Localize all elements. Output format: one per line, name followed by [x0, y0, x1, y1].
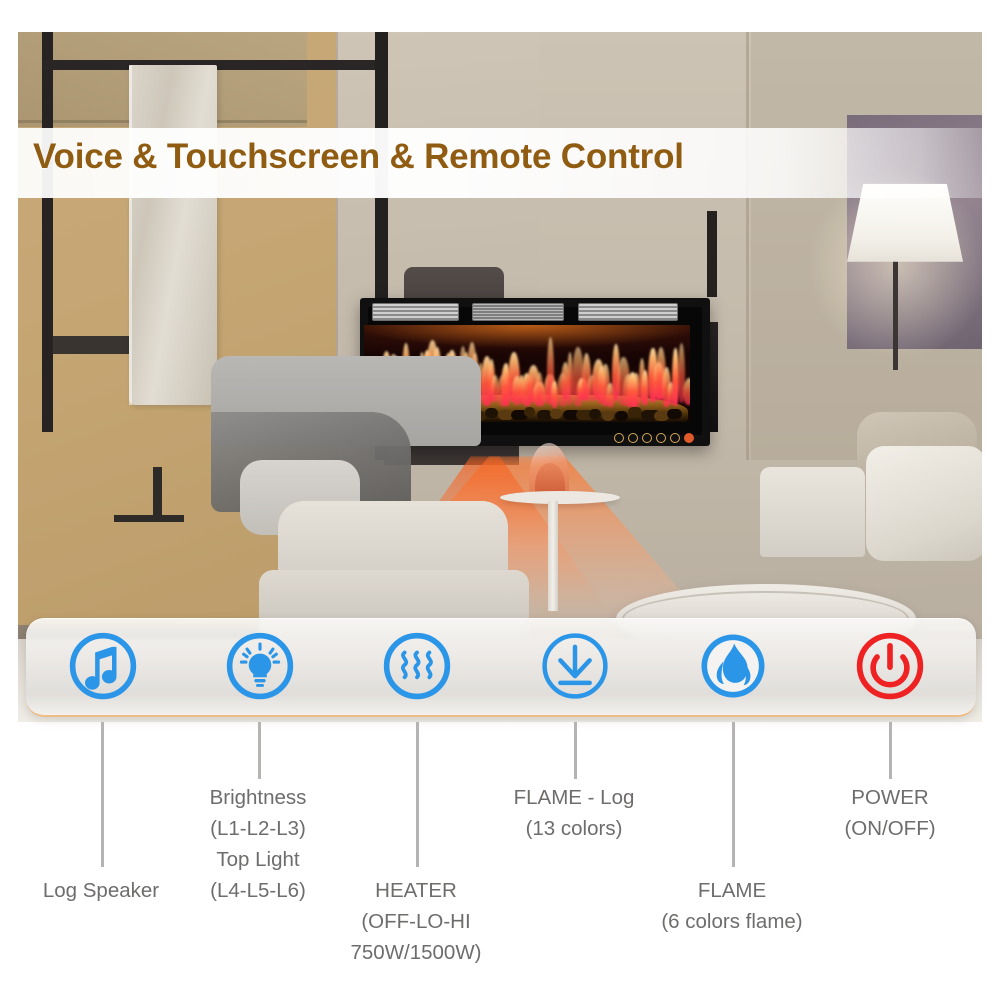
- control-bar: [26, 618, 976, 717]
- connector-flame-log: [574, 722, 577, 779]
- log-ember: [550, 409, 562, 419]
- product-infographic: Voice & Touchscreen & Remote Control: [0, 0, 1000, 1000]
- right-sofa-arm: [760, 467, 865, 557]
- log-ember: [485, 408, 498, 418]
- fireplace-vent-right: [578, 303, 678, 321]
- flame-tongue: [683, 378, 690, 405]
- callout-power: POWER (ON/OFF): [790, 782, 990, 844]
- fireplace-indicator-dot[interactable]: [628, 433, 638, 443]
- fireplace-indicator-dot[interactable]: [684, 433, 694, 443]
- connector-power: [889, 722, 892, 779]
- flame-icon: [697, 630, 769, 702]
- fireplace-control-panel: [614, 433, 700, 442]
- connector-flame: [732, 722, 735, 867]
- right-sofa-cushion: [866, 446, 982, 561]
- wall-right-edge: [746, 32, 749, 460]
- fireplace-indicator-dot[interactable]: [656, 433, 666, 443]
- connector-brightness: [258, 722, 261, 779]
- rack-foot: [114, 515, 184, 522]
- heat-waves-icon: [381, 630, 453, 702]
- rack-post-left: [42, 32, 53, 432]
- dark-pillar-top: [707, 211, 717, 297]
- curtain-fold: [129, 65, 132, 405]
- lamp-pole: [893, 260, 898, 370]
- flame-log-button[interactable]: [539, 630, 611, 702]
- callout-heater: HEATER (OFF-LO-HI 750W/1500W): [316, 875, 516, 968]
- music-note-icon: [67, 630, 139, 702]
- power-button[interactable]: [854, 630, 926, 702]
- pedestal-table-top: [500, 491, 620, 504]
- log-speaker-button[interactable]: [67, 630, 139, 702]
- callout-flame-log: FLAME - Log (13 colors): [474, 782, 674, 844]
- connector-log-speaker: [101, 722, 104, 867]
- fireplace-indicator-dot[interactable]: [614, 433, 624, 443]
- log-ember: [667, 409, 682, 419]
- hanging-curtain: [129, 65, 217, 405]
- flame-tongue: [536, 372, 543, 403]
- pedestal-table-stem: [548, 501, 558, 611]
- connector-heater: [416, 722, 419, 867]
- title-banner: Voice & Touchscreen & Remote Control: [0, 128, 1000, 198]
- fireplace-indicator-dot[interactable]: [670, 433, 680, 443]
- log-ember: [628, 407, 641, 417]
- log-ember: [602, 411, 613, 421]
- page-title: Voice & Touchscreen & Remote Control: [33, 137, 684, 177]
- nightstand: [47, 336, 137, 354]
- brightness-button[interactable]: [224, 630, 296, 702]
- fireplace-vent-left: [372, 303, 459, 321]
- power-icon: [854, 630, 926, 702]
- rack-leg: [153, 467, 162, 522]
- flame-button[interactable]: [697, 630, 769, 702]
- fireplace-indicator-dot[interactable]: [642, 433, 652, 443]
- heater-button[interactable]: [381, 630, 453, 702]
- down-arrow-icon: [539, 630, 611, 702]
- fireplace-vent-center: [472, 303, 564, 321]
- light-bulb-icon: [224, 630, 296, 702]
- callout-flame: FLAME (6 colors flame): [632, 875, 832, 937]
- log-ember: [615, 411, 628, 421]
